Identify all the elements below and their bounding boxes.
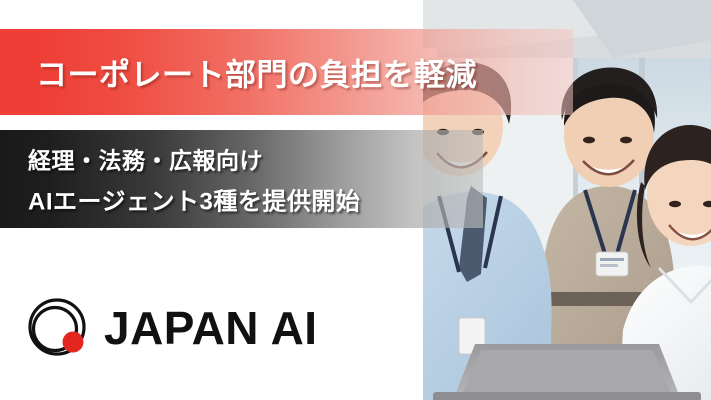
subtitle-line-1: 経理・法務・広報向け [28,142,360,176]
japan-ai-circle-mark-icon [26,296,90,360]
headline-band: コーポレート部門の負担を軽減 [0,29,573,115]
subtitle-band: 経理・法務・広報向け AIエージェント3種を提供開始 [0,130,483,228]
logo-wordmark: JAPAN AI [104,305,318,351]
subtitle-text: 経理・法務・広報向け AIエージェント3種を提供開始 [28,142,360,217]
press-release-banner: コーポレート部門の負担を軽減 経理・法務・広報向け AIエージェント3種を提供開… [0,0,711,400]
subtitle-line-2: AIエージェント3種を提供開始 [28,182,360,217]
red-dot-icon [63,332,84,353]
japan-ai-logo: JAPAN AI [26,296,318,360]
headline-text: コーポレート部門の負担を軽減 [36,50,477,95]
